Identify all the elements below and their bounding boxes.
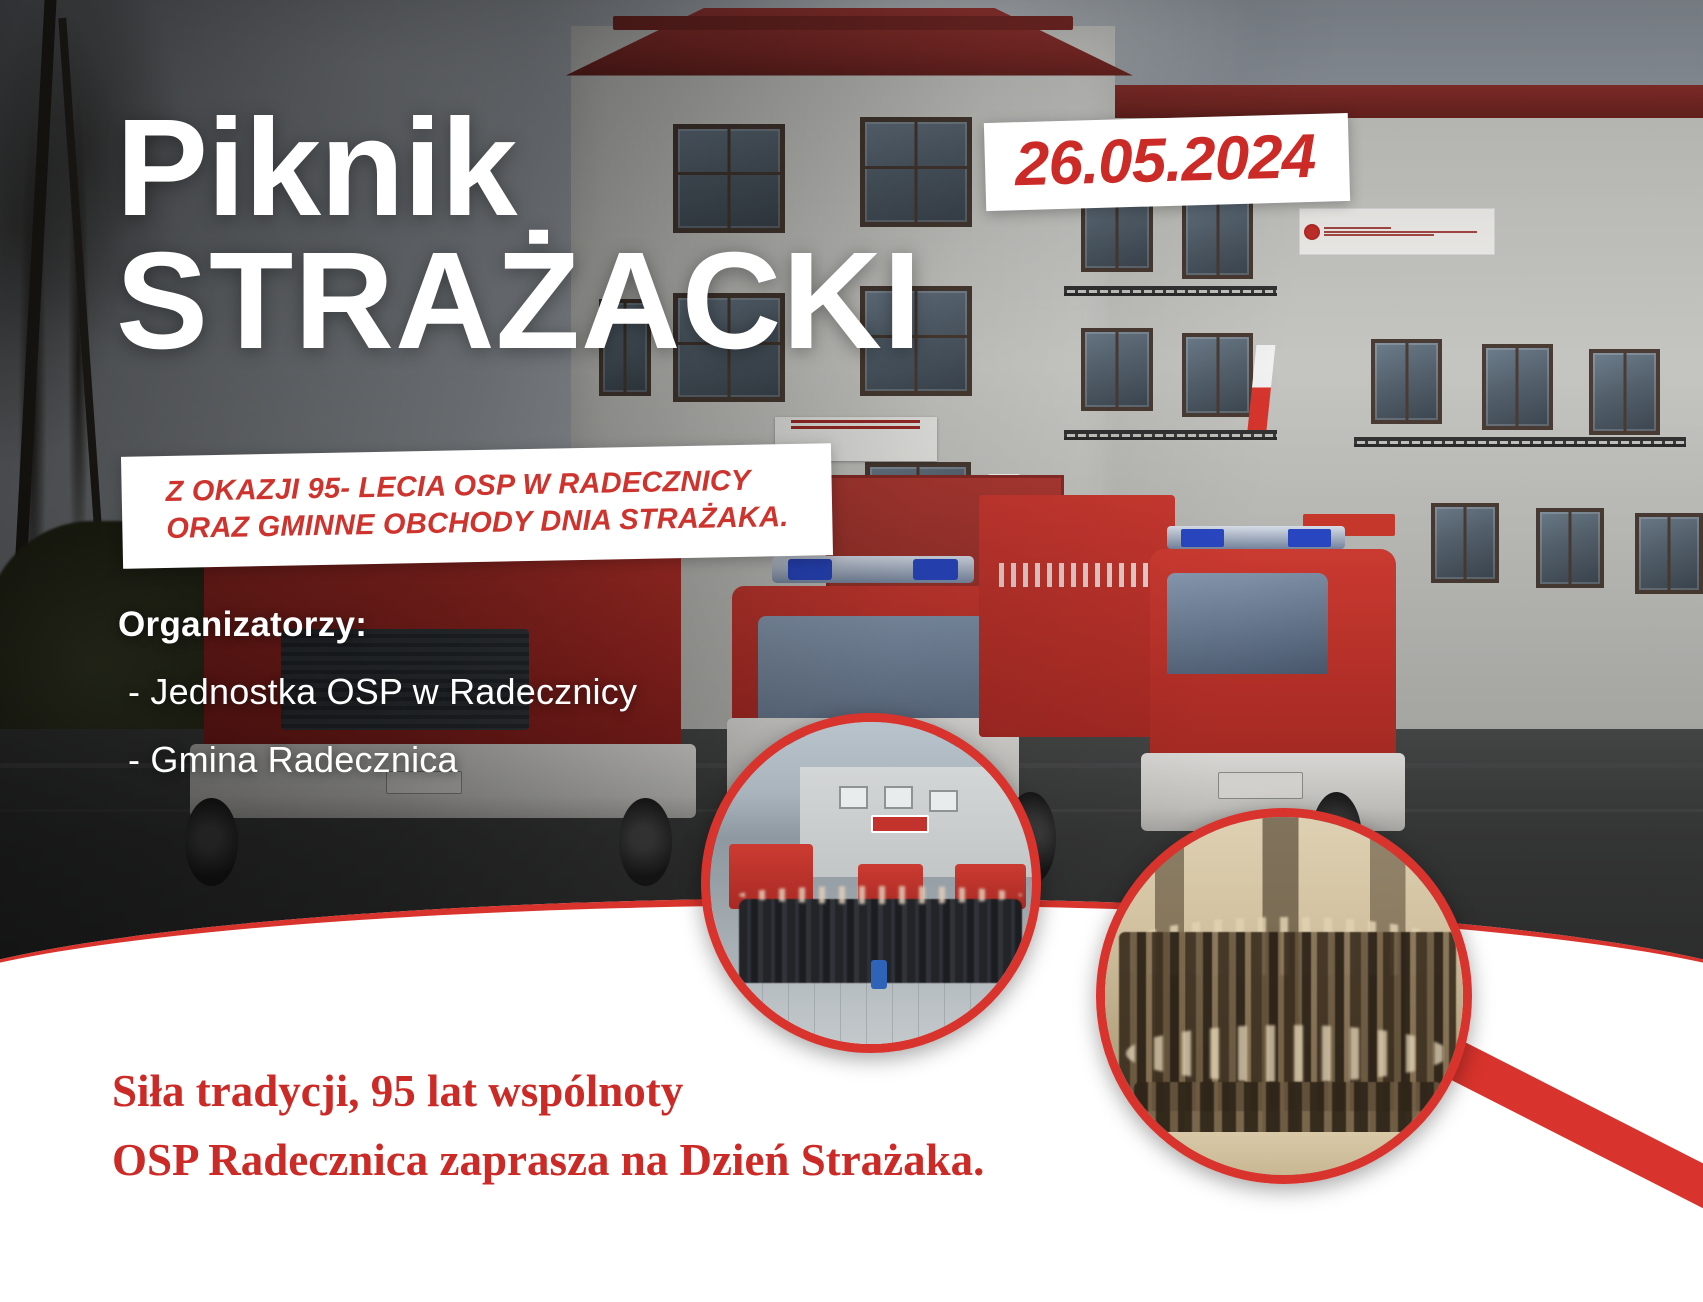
historic-floor (1105, 1132, 1463, 1175)
photo-circle-modern-image (710, 722, 1032, 1044)
remiza-window (929, 790, 958, 813)
footer-slogan: Siła tradycji, 95 lat wspólnoty OSP Rade… (112, 1063, 984, 1190)
remiza-window (839, 786, 868, 809)
historic-faces-row (1126, 1025, 1448, 1082)
organizer-item: - Jednostka OSP w Radecznicy (128, 671, 637, 713)
page-title: Piknik STRAŻACKI (116, 105, 922, 365)
title-line-2: STRAŻACKI (116, 238, 922, 365)
photo-circle-historic-image (1105, 817, 1463, 1175)
remiza-window (884, 786, 913, 809)
organizer-item: - Gmina Radecznica (128, 739, 637, 781)
group-photo-ground (710, 980, 1032, 1044)
occasion-banner: Z OKAZJI 95- LECIA OSP W RADECZNICY ORAZ… (121, 443, 833, 569)
photo-circle-modern (701, 713, 1041, 1053)
child-in-blue (871, 960, 887, 989)
organizers-heading: Organizatorzy: (118, 605, 637, 645)
organizers-section: Organizatorzy: - Jednostka OSP w Radeczn… (118, 605, 637, 807)
title-line-1: Piknik (116, 105, 922, 232)
event-date-badge: 26.05.2024 (984, 113, 1351, 211)
event-date: 26.05.2024 (1014, 126, 1316, 196)
footer-line-1: Siła tradycji, 95 lat wspólnoty (112, 1063, 984, 1121)
organizers-list: - Jednostka OSP w Radecznicy - Gmina Rad… (118, 671, 637, 781)
footer-line-2: OSP Radecznica zaprasza na Dzień Strażak… (112, 1132, 984, 1190)
poster-canvas: Piknik STRAŻACKI 26.05.2024 Z OKAZJI 95-… (0, 0, 1703, 1302)
photo-circle-historic (1096, 808, 1472, 1184)
remiza-sign (871, 815, 929, 833)
